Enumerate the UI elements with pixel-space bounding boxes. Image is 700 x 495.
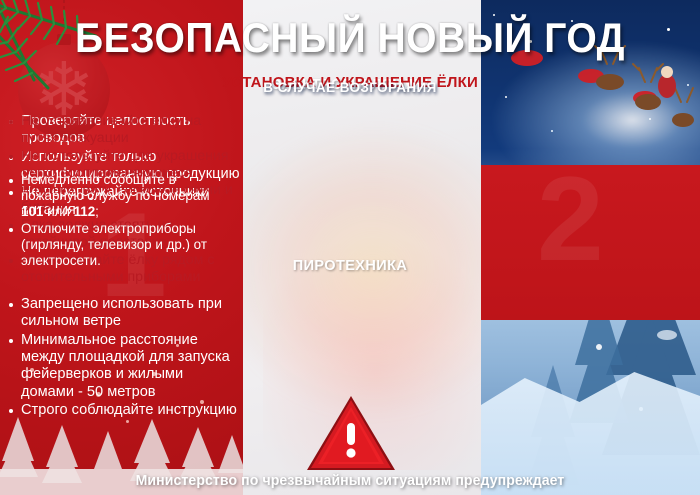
poster-canvas: ❄ 1	[0, 0, 700, 495]
list-pyrotechnics: Запрещено использовать при сильном ветре…	[8, 296, 240, 421]
list-item: Отключите электроприборы (гирлянду, теле…	[8, 221, 216, 269]
footer-ministry-notice: Министерство по чрезвычайным ситуациям п…	[11, 473, 690, 489]
call-suffix: ;	[95, 204, 99, 219]
call-prefix: Немедленно сообщите в пожарную службу по…	[21, 172, 210, 203]
page-title: БЕЗОПАСНЫЙ НОВЫЙ ГОД	[25, 14, 676, 62]
list-item: Не устанавливайте ёлку на путях эвакуаци…	[8, 113, 236, 147]
call-middle: или	[43, 204, 73, 219]
emergency-number-112: 112	[74, 204, 96, 219]
list-in-case-of-fire: Немедленно сообщите в пожарную службу по…	[8, 172, 216, 270]
list-item: Минимальное расстояние между площадкой д…	[8, 332, 240, 401]
list-item: Строго соблюдайте инструкцию	[8, 402, 240, 419]
emergency-red-block: 2	[481, 165, 700, 320]
heading-in-case-of-fire: В СЛУЧАЕ ВОЗГОРАНИЯ	[8, 80, 692, 95]
list-item-emergency-call: Немедленно сообщите в пожарную службу по…	[8, 172, 216, 220]
emergency-number-101: 101	[21, 204, 43, 219]
list-item: Запрещено использовать при сильном ветре	[8, 296, 240, 331]
warning-triangle-icon	[305, 393, 397, 473]
